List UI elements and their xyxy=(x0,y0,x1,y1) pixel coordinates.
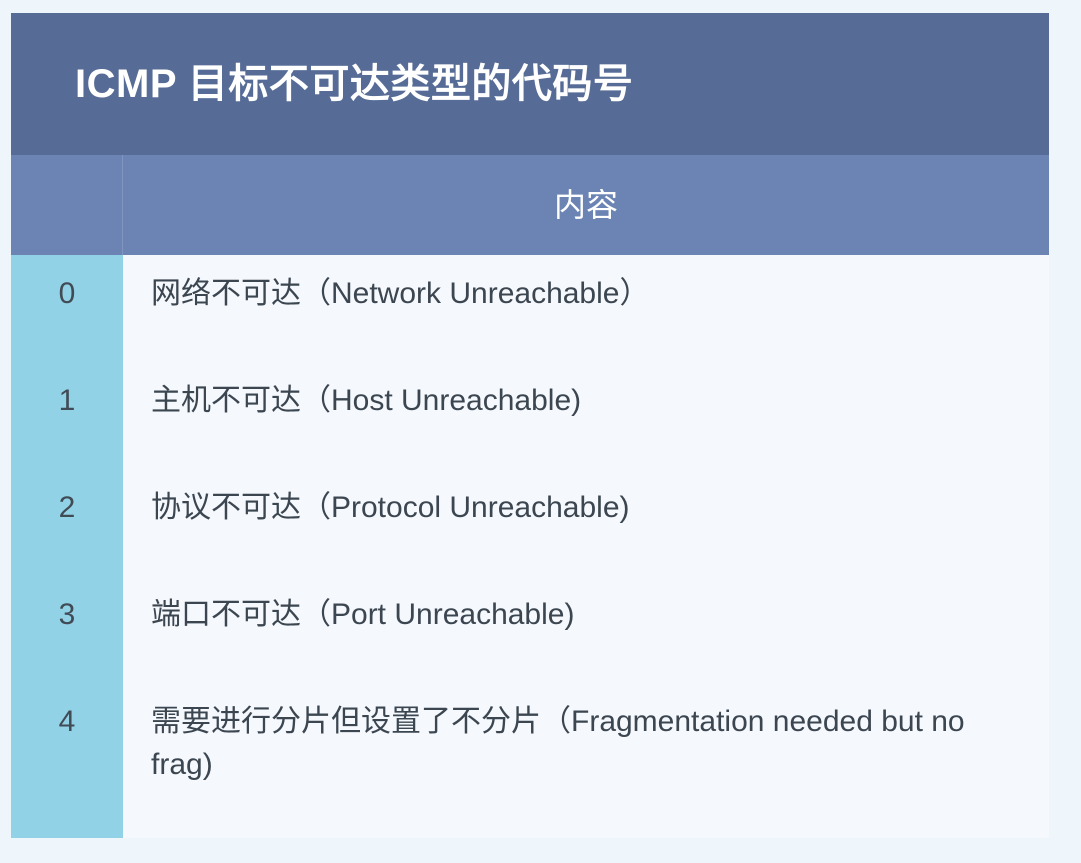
table-row: 端口不可达（Port Unreachable) xyxy=(123,576,1049,683)
table-row: 网络不可达（Network Unreachable） xyxy=(123,255,1049,362)
page-root: ICMP 目标不可达类型的代码号 内容 0 1 2 3 4 网络不可达（Netw… xyxy=(0,0,1081,863)
table-row: 1 xyxy=(11,362,123,469)
column-header-content-label: 内容 xyxy=(554,186,618,224)
table-row: 需要进行分片但设置了不分片（Fragmentation needed but n… xyxy=(123,683,1049,838)
code-column: 0 1 2 3 4 xyxy=(11,255,123,838)
column-header-code xyxy=(11,155,123,255)
table-title-bar: ICMP 目标不可达类型的代码号 xyxy=(11,13,1049,155)
table-row: 4 xyxy=(11,683,123,838)
table-header-row: 内容 xyxy=(11,155,1049,255)
table-row: 0 xyxy=(11,255,123,362)
table-row: 3 xyxy=(11,576,123,683)
table-body: 0 1 2 3 4 网络不可达（Network Unreachable） 主机不… xyxy=(11,255,1049,838)
table-row: 协议不可达（Protocol Unreachable) xyxy=(123,469,1049,576)
table-row: 主机不可达（Host Unreachable) xyxy=(123,362,1049,469)
table-row: 2 xyxy=(11,469,123,576)
column-header-content: 内容 xyxy=(123,155,1049,255)
icmp-code-table: ICMP 目标不可达类型的代码号 内容 0 1 2 3 4 网络不可达（Netw… xyxy=(11,13,1049,838)
page-title: ICMP 目标不可达类型的代码号 xyxy=(75,62,633,106)
content-column: 网络不可达（Network Unreachable） 主机不可达（Host Un… xyxy=(123,255,1049,838)
